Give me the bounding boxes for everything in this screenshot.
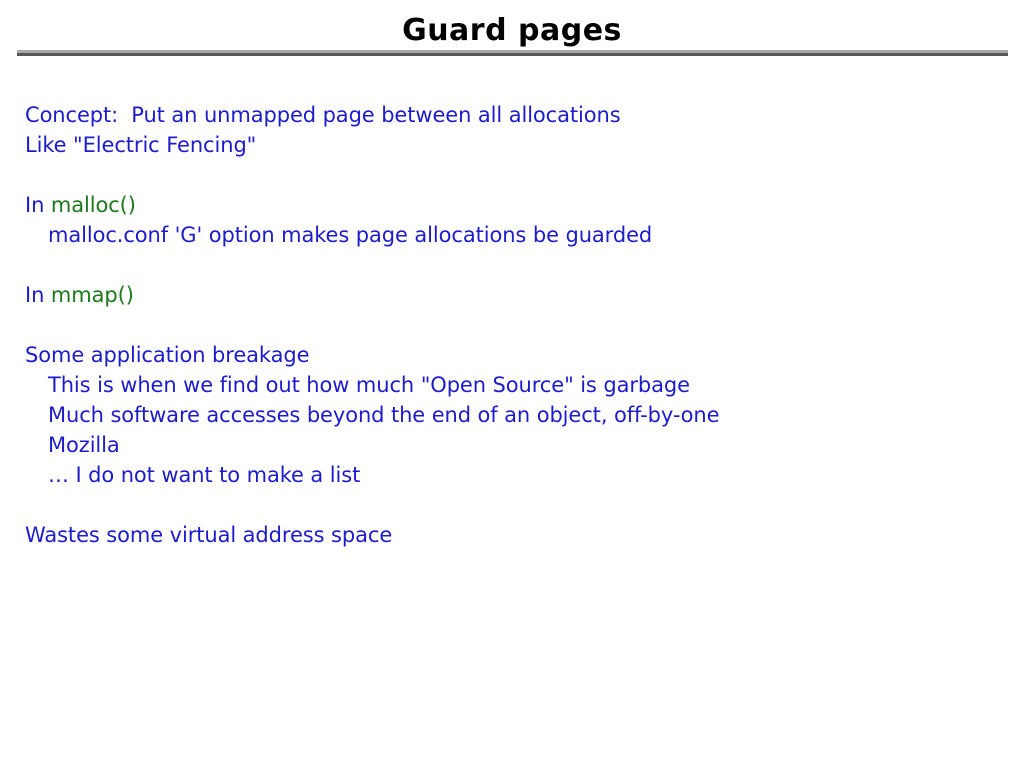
text-segment: … I do not want to make a list: [48, 463, 360, 487]
body-line-electric-fencing: Like "Electric Fencing": [25, 130, 985, 160]
slide-body: Concept: Put an unmapped page between al…: [25, 100, 985, 550]
text-segment: malloc.conf 'G' option makes page alloca…: [48, 223, 652, 247]
text-segment: mmap(): [51, 283, 134, 307]
slide: Guard pages Concept: Put an unmapped pag…: [0, 0, 1024, 768]
text-segment: Wastes some virtual address space: [25, 523, 392, 547]
text-segment: Much software accesses beyond the end of…: [48, 403, 719, 427]
body-line-in-malloc: In malloc(): [25, 190, 985, 220]
text-segment: In: [25, 283, 51, 307]
text-segment: This is when we find out how much "Open …: [48, 373, 690, 397]
body-line-open-source-garbage: This is when we find out how much "Open …: [48, 370, 985, 400]
body-line-malloc-conf-g: malloc.conf 'G' option makes page alloca…: [48, 220, 985, 250]
text-segment: Some application breakage: [25, 343, 309, 367]
body-line-off-by-one: Much software accesses beyond the end of…: [48, 400, 985, 430]
page-title: Guard pages: [0, 14, 1024, 48]
text-segment: Mozilla: [48, 433, 120, 457]
body-spacer: [25, 490, 985, 520]
title-divider: [17, 50, 1008, 56]
body-spacer: [25, 250, 985, 280]
body-line-wastes-address-space: Wastes some virtual address space: [25, 520, 985, 550]
text-segment: In: [25, 193, 51, 217]
text-segment: malloc(): [51, 193, 136, 217]
body-spacer: [25, 310, 985, 340]
body-spacer: [25, 160, 985, 190]
body-line-some-application-breakage: Some application breakage: [25, 340, 985, 370]
body-line-in-mmap: In mmap(): [25, 280, 985, 310]
text-segment: Concept: Put an unmapped page between al…: [25, 103, 621, 127]
title-divider-shadow: [17, 53, 1008, 56]
body-line-mozilla: Mozilla: [48, 430, 985, 460]
body-line-do-not-want-list: … I do not want to make a list: [48, 460, 985, 490]
body-line-concept: Concept: Put an unmapped page between al…: [25, 100, 985, 130]
text-segment: Like "Electric Fencing": [25, 133, 256, 157]
